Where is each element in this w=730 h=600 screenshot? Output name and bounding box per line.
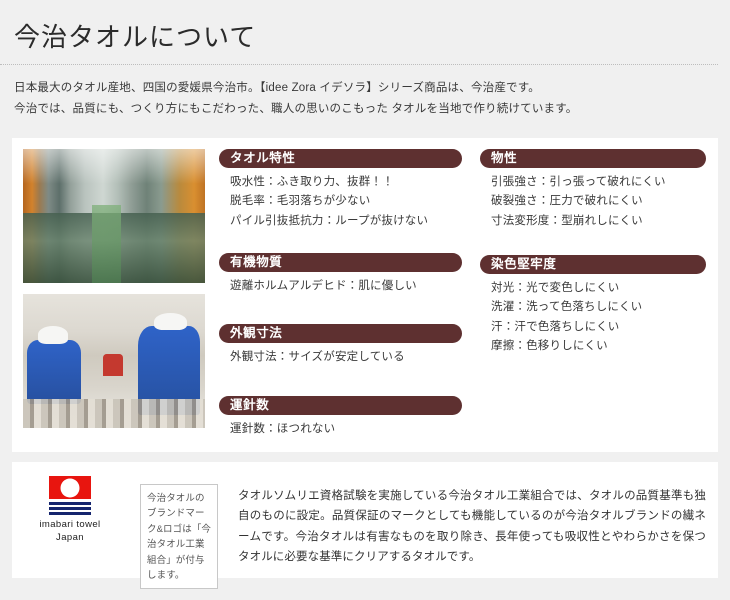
photo-workers-folding-towels [23,294,205,428]
worker-cap-right-icon [154,313,187,330]
spec-line: 吸水性：ふき取り力、抜群！！ [230,173,472,192]
logo-blue-bars [49,502,91,515]
spec-column-right: 物性 引張強さ：引っ張って破れにくい 破裂強さ：圧力で破れにくい 寸法変形度：型… [472,149,723,439]
spec-column-left: タオル特性 吸水性：ふき取り力、抜群！！ 脱毛率：毛羽落ちが少ない パイル引抜抵… [219,149,472,439]
photo-column [23,149,209,439]
spec-line: 遊離ホルムアルデヒド：肌に優しい [230,277,472,296]
brand-description: タオルソムリエ資格試験を実施している今治タオル工業組合では、タオルの品質基準も独… [238,486,706,568]
spec-line: 寸法変形度：型崩れしにくい [491,212,723,231]
worker-cap-left-icon [38,326,69,343]
spec-heading-organic-substances: 有機物質 [219,253,462,272]
spec-heading-physical-properties: 物性 [480,149,706,168]
logo-bar [49,512,91,515]
spec-lines-organic-substances: 遊離ホルムアルデヒド：肌に優しい [219,277,472,296]
spec-block-appearance-dimensions: 外観寸法 外観寸法：サイズが安定している [219,324,472,367]
spec-line: 汗：汗で色落ちしにくい [491,318,723,337]
logo-bar [49,507,91,510]
spec-lines-stitch-count: 運針数：ほつれない [219,420,472,439]
intro-line-1: 日本最大のタオル産地、四国の愛媛県今治市。【idee Zora イデソラ】シリー… [14,78,730,99]
intro-text: 日本最大のタオル産地、四国の愛媛県今治市。【idee Zora イデソラ】シリー… [14,78,730,121]
spec-line: 脱毛率：毛羽落ちが少ない [230,192,472,211]
spec-lines-color-fastness: 対光：光で変色しにくい 洗濯：洗って色落ちしにくい 汗：汗で色落ちしにくい 摩擦… [480,279,723,356]
background-worker-icon [103,354,123,375]
spec-line: 運針数：ほつれない [230,420,472,439]
spec-heading-stitch-count: 運針数 [219,396,462,415]
spec-block-color-fastness: 染色堅牢度 対光：光で変色しにくい 洗濯：洗って色落ちしにくい 汗：汗で色落ちし… [480,255,723,356]
brand-panel: imabari towel Japan 今治タオルのブランドマーク&ロゴは「今治… [12,462,718,578]
spec-line: 引張強さ：引っ張って破れにくい [491,173,723,192]
page-title: 今治タオルについて [14,22,730,55]
logo-white-circle [61,478,80,497]
logo-wordmark-line-2: Japan [22,532,118,545]
spec-heading-towel-characteristics: タオル特性 [219,149,462,168]
spec-line: 外観寸法：サイズが安定している [230,348,472,367]
spec-line: 対光：光で変色しにくい [491,279,723,298]
logo-bar [49,502,91,505]
spec-block-stitch-count: 運針数 運針数：ほつれない [219,396,472,439]
title-divider [0,64,718,65]
spec-line: パイル引抜抵抗力：ループが抜けない [230,212,472,231]
logo-wordmark-line-1: imabari towel [22,519,118,532]
spec-block-physical-properties: 物性 引張強さ：引っ張って破れにくい 破裂強さ：圧力で破れにくい 寸法変形度：型… [480,149,723,231]
photo-weaving-looms-factory-floor [23,149,205,283]
logo-wordmark: imabari towel Japan [22,519,118,545]
spec-heading-color-fastness: 染色堅牢度 [480,255,706,274]
spec-heading-appearance-dimensions: 外観寸法 [219,324,462,343]
imabari-towel-mark-icon [49,476,91,512]
logo-red-square [49,476,91,499]
specifications-panel: タオル特性 吸水性：ふき取り力、抜群！！ 脱毛率：毛羽落ちが少ない パイル引抜抵… [12,138,718,452]
page-header: 今治タオルについて [0,0,730,55]
brand-mark-note: 今治タオルのブランドマーク&ロゴは「今治タオル工業組合」が付与します。 [140,484,218,589]
spec-lines-appearance-dimensions: 外観寸法：サイズが安定している [219,348,472,367]
spec-lines-towel-characteristics: 吸水性：ふき取り力、抜群！！ 脱毛率：毛羽落ちが少ない パイル引抜抵抗力：ループ… [219,173,472,231]
intro-line-2: 今治では、品質にも、つくり方にもこだわった、職人の思いのこもった タオルを当地で… [14,99,730,120]
spec-line: 破裂強さ：圧力で破れにくい [491,192,723,211]
spec-line: 洗濯：洗って色落ちしにくい [491,298,723,317]
spec-lines-physical-properties: 引張強さ：引っ張って破れにくい 破裂強さ：圧力で破れにくい 寸法変形度：型崩れし… [480,173,723,231]
spec-line: 摩擦：色移りしにくい [491,337,723,356]
imabari-towel-logo: imabari towel Japan [22,470,118,545]
spec-block-towel-characteristics: タオル特性 吸水性：ふき取り力、抜群！！ 脱毛率：毛羽落ちが少ない パイル引抜抵… [219,149,472,231]
folded-towel-stack [23,399,205,428]
spec-block-organic-substances: 有機物質 遊離ホルムアルデヒド：肌に優しい [219,253,472,296]
